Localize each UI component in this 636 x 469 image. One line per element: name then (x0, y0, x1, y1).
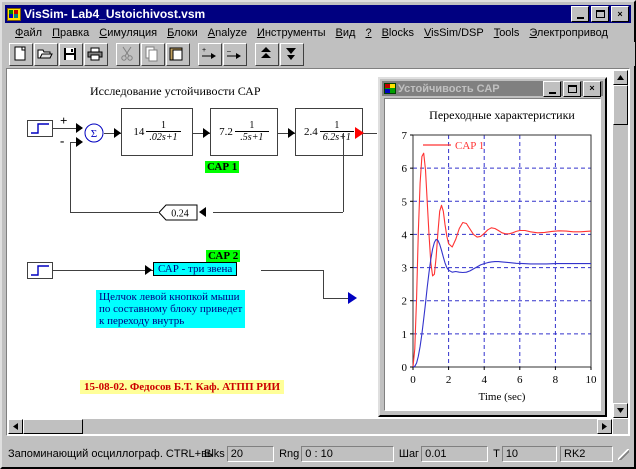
arrow-into-block1 (114, 128, 121, 138)
block1-numerator: 1 (158, 121, 169, 131)
window-caption-buttons: × (571, 6, 629, 22)
y-tick-label: 4 (402, 229, 408, 241)
window-title: VisSim- Lab4_Ustoichivost.vsm (24, 7, 571, 21)
scroll-right-button[interactable] (597, 419, 612, 434)
x-tick-label: 0 (410, 374, 416, 386)
wire-block3-out (363, 133, 377, 134)
svg-text:–: – (227, 48, 231, 55)
sar1-label: САР 1 (205, 161, 239, 173)
wire-feedback-right (213, 212, 343, 213)
menu-item-file[interactable]: Файл (10, 26, 47, 40)
menu-item-simulation[interactable]: Симуляция (94, 26, 162, 40)
wire-feedback-bottom-left (70, 212, 158, 213)
status-message: Запоминающий осциллограф. CTRL+вь (6, 446, 202, 462)
plot-input-connector-2[interactable] (348, 292, 357, 304)
vertical-scroll-thumb[interactable] (613, 85, 628, 125)
hint-line-2: по составному блоку приведет (99, 303, 242, 315)
arrow-into-block2 (203, 128, 210, 138)
block2-denominator: .5s+1 (237, 132, 266, 143)
block1-gain: 14 (133, 126, 144, 138)
plot-title-bar: Устойчивость САР × (382, 81, 603, 96)
sum-minus-sign: - (60, 133, 64, 149)
hint-line-1: Щелчок левой кнопкой мыши (99, 291, 242, 303)
scroll-left-button[interactable] (8, 419, 23, 434)
series-2 (413, 239, 591, 367)
wire-compound-out (261, 270, 323, 271)
scroll-up-button[interactable] (613, 70, 628, 85)
legend-label: CAP 1 (455, 140, 484, 152)
close-button[interactable]: × (611, 6, 629, 22)
scroll-down-button[interactable] (613, 403, 628, 418)
y-tick-label: 5 (402, 196, 408, 208)
step-source-2[interactable] (27, 262, 53, 279)
menu-item-drive[interactable]: Электропривод (524, 26, 613, 40)
menu-item-view[interactable]: Вид (331, 26, 361, 40)
menu-item-tools-ru[interactable]: Инструменты (252, 26, 331, 40)
cut-icon (116, 43, 140, 66)
paste-icon[interactable] (166, 43, 190, 66)
chart-svg: Переходные характеристики012345670246810… (385, 99, 604, 415)
open-icon[interactable] (34, 43, 58, 66)
t-value: 10 (502, 446, 557, 462)
hint-note: Щелчок левой кнопкой мыши по составному … (96, 290, 245, 328)
x-axis-label: Time (sec) (479, 391, 526, 403)
wire-feedback-vertical (70, 142, 71, 212)
toolbar: + – (5, 42, 635, 66)
plot-maximize-button[interactable] (563, 81, 581, 97)
menu-item-edit[interactable]: Правка (47, 26, 94, 40)
x-tick-label: 2 (446, 374, 452, 386)
menu-item-vissim-dsp[interactable]: VisSim/DSP (419, 26, 489, 40)
step-add-icon[interactable]: + (198, 43, 222, 66)
transfer-block-1[interactable]: 14 1 .02s+1 (121, 108, 193, 156)
horizontal-scrollbar[interactable] (8, 419, 612, 434)
sar2-label: САР 2 (206, 250, 240, 262)
run-icon[interactable]: – (223, 43, 247, 66)
arrow-into-compound (145, 265, 152, 275)
maximize-button[interactable] (591, 6, 609, 22)
plot-input-connector-1[interactable] (355, 127, 364, 139)
plot-frame (413, 135, 591, 367)
block3-gain: 2.4 (304, 126, 318, 138)
resize-grip[interactable] (616, 447, 630, 461)
plot-window-icon (384, 83, 396, 94)
minimize-button[interactable] (571, 6, 589, 22)
y-tick-label: 1 (402, 329, 408, 341)
sum-plus-sign: + (60, 113, 67, 129)
block2-gain: 7.2 (219, 126, 233, 138)
step-source-1[interactable] (27, 120, 53, 137)
wire-compound-down (323, 270, 324, 298)
blks-value: 20 (227, 446, 274, 462)
blks-label: Blks (202, 446, 227, 462)
arrow-into-block3 (288, 128, 295, 138)
block2-numerator: 1 (246, 121, 257, 131)
arrow-into-sum-plus (76, 123, 83, 133)
plot-close-button[interactable]: × (583, 81, 601, 97)
save-icon[interactable] (59, 43, 83, 66)
svg-text:Σ: Σ (91, 128, 97, 140)
plot-window: Устойчивость САР × Переходные характерис… (378, 77, 607, 417)
t-label: T (491, 446, 502, 462)
menu-item-analyze[interactable]: Analyze (203, 26, 252, 40)
application-window: VisSim- Lab4_Ustoichivost.vsm × Файл Пра… (0, 0, 636, 469)
diagram-canvas[interactable]: Исследование устойчивости САР + - Σ (8, 70, 613, 420)
menu-item-tools[interactable]: Tools (489, 26, 525, 40)
vissim-app-icon (7, 8, 21, 21)
status-bar: Запоминающий осциллограф. CTRL+вь Blks 2… (6, 445, 630, 463)
menu-item-help[interactable]: ? (360, 26, 376, 40)
y-tick-label: 3 (402, 263, 408, 275)
wire-out-to-feedback (343, 133, 344, 212)
diagram-title: Исследование устойчивости САР (90, 84, 261, 99)
plot-canvas[interactable]: Переходные характеристики012345670246810… (384, 98, 601, 411)
x-tick-label: 4 (481, 374, 487, 386)
block1-denominator: .02s+1 (146, 132, 180, 143)
up-level-icon[interactable] (255, 43, 279, 66)
down-level-icon[interactable] (280, 43, 304, 66)
menu-item-blocks-ru[interactable]: Блоки (162, 26, 203, 40)
author-credit: 15-08-02. Федосов Б.Т. Каф. АТПП РИИ (80, 380, 284, 394)
title-bar: VisSim- Lab4_Ustoichivost.vsm × (5, 5, 631, 23)
svg-text:+: + (202, 47, 206, 54)
x-tick-label: 8 (553, 374, 559, 386)
block3-denominator: 6.2s+1 (320, 132, 354, 143)
svg-text:0.24: 0.24 (171, 209, 189, 220)
plot-minimize-button[interactable] (543, 81, 561, 97)
workspace: Исследование устойчивости САР + - Σ (6, 68, 630, 436)
rng-value: 0 : 10 (301, 446, 394, 462)
hint-line-3: к переходу внутрь (99, 315, 242, 327)
vertical-scrollbar[interactable] (613, 70, 628, 418)
summing-junction[interactable]: Σ (84, 123, 104, 146)
print-icon[interactable] (84, 43, 108, 66)
x-tick-label: 10 (586, 374, 598, 386)
series-1 (413, 153, 591, 367)
compound-block[interactable]: САР - три звена (153, 262, 237, 276)
copy-icon (141, 43, 165, 66)
step-value: 0.01 (421, 446, 488, 462)
menu-item-blocks[interactable]: Blocks (377, 26, 419, 40)
plot-window-title: Устойчивость САР (398, 83, 543, 95)
y-tick-label: 0 (402, 362, 408, 374)
arrow-into-sum-minus (76, 137, 83, 147)
chart-title: Переходные характеристики (429, 108, 575, 122)
arrow-into-gain (199, 207, 206, 217)
rng-label: Rng (277, 446, 301, 462)
horizontal-scroll-thumb[interactable] (23, 419, 83, 434)
block3-numerator: 1 (331, 121, 342, 131)
y-tick-label: 2 (402, 296, 408, 308)
wire-step2-compound (53, 270, 153, 271)
menu-bar: Файл Правка Симуляция Блоки Analyze Инст… (5, 24, 631, 41)
transfer-block-3[interactable]: 2.4 1 6.2s+1 (295, 108, 363, 156)
x-tick-label: 6 (517, 374, 523, 386)
feedback-gain-block[interactable]: 0.24 (158, 204, 198, 224)
scrollbar-corner (613, 419, 628, 434)
y-tick-label: 6 (402, 163, 408, 175)
transfer-block-2[interactable]: 7.2 1 .5s+1 (210, 108, 278, 156)
solver-value: RK2 (560, 446, 613, 462)
step-label: Шаг (397, 446, 421, 462)
y-tick-label: 7 (402, 130, 408, 142)
new-icon[interactable] (9, 43, 33, 66)
